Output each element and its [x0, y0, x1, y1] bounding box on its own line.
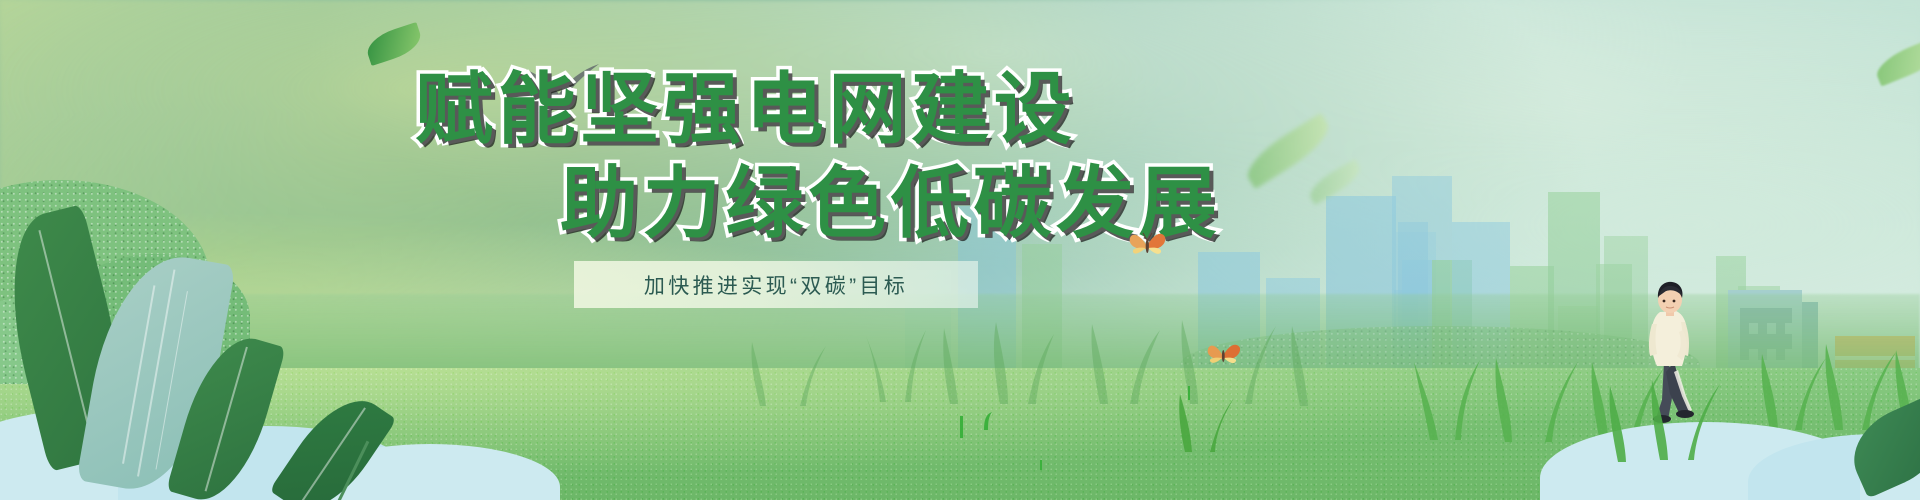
- butterfly-center-icon: [1128, 228, 1168, 262]
- title-block: 赋能坚强电网建设 助力绿色低碳发展: [0, 66, 1920, 246]
- butterfly-right-icon: [1206, 340, 1242, 370]
- walking-person: [1638, 278, 1712, 428]
- title-line-2: 助力绿色低碳发展: [0, 160, 1920, 246]
- title-line-1: 赋能坚强电网建设: [0, 66, 1920, 152]
- subtitle-text: 加快推进实现“双碳”目标: [574, 261, 978, 308]
- banner-root: 赋能坚强电网建设 助力绿色低碳发展 加快推进实现“双碳”目标: [0, 0, 1920, 500]
